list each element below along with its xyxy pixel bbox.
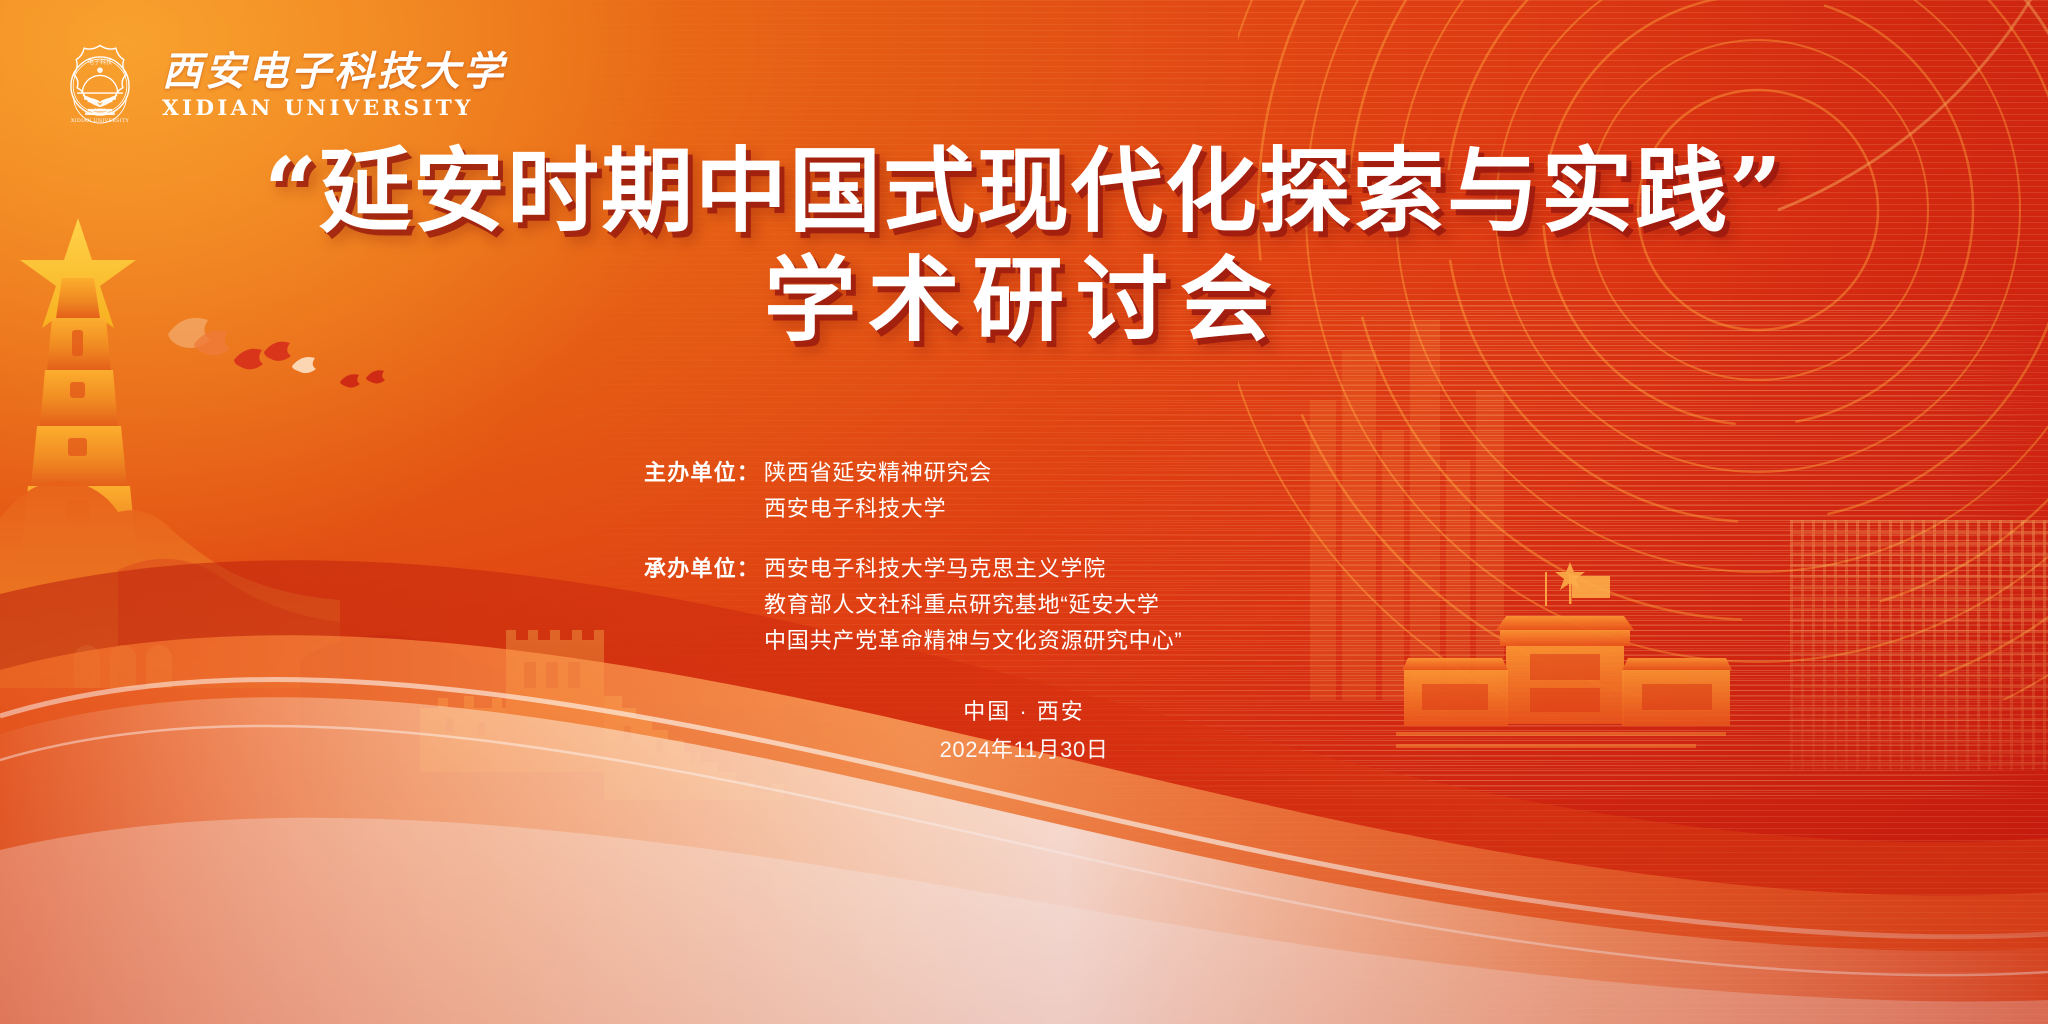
event-date: 2024年11月30日 [644, 731, 1404, 769]
host-row: 主办单位： 陕西省延安精神研究会 西安电子科技大学 [644, 455, 1404, 527]
xidian-university-seal-icon: 电子科技 1931 XIDIAN UNIVERSITY [56, 42, 144, 130]
seal-year: 1931 [94, 109, 105, 114]
organizer-item: 教育部人文社科重点研究基地“延安大学 [764, 587, 1404, 623]
event-place-date: 中国 · 西安 2024年11月30日 [644, 693, 1404, 769]
university-name-en: XIDIAN UNIVERSITY [162, 96, 506, 121]
organizer-label: 承办单位： [644, 551, 764, 587]
organizer-values: 西安电子科技大学马克思主义学院 教育部人文社科重点研究基地“延安大学 中国共产党… [764, 551, 1404, 659]
organizer-item: 西安电子科技大学马克思主义学院 [764, 551, 1404, 587]
dot-grid-texture [1790, 520, 2048, 770]
title-line-2: 学术研讨会 [0, 243, 2048, 359]
host-item: 陕西省延安精神研究会 [764, 455, 1404, 491]
page-title: “延安时期中国式现代化探索与实践” 学术研讨会 [0, 140, 2048, 359]
organizer-row: 承办单位： 西安电子科技大学马克思主义学院 教育部人文社科重点研究基地“延安大学… [644, 551, 1404, 659]
host-label: 主办单位： [644, 455, 764, 491]
conference-banner: 电子科技 1931 XIDIAN UNIVERSITY 西安电子科技大学 XID… [0, 0, 2048, 1024]
host-item: 西安电子科技大学 [764, 491, 1404, 527]
organizer-info: 主办单位： 陕西省延安精神研究会 西安电子科技大学 承办单位： 西安电子科技大学… [644, 455, 1404, 769]
host-values: 陕西省延安精神研究会 西安电子科技大学 [764, 455, 1404, 527]
university-name-cn: 西安电子科技大学 [162, 51, 506, 93]
organizer-item: 中国共产党革命精神与文化资源研究中心” [764, 623, 1404, 659]
seal-arc-text-en: XIDIAN UNIVERSITY [71, 118, 129, 124]
university-logo: 电子科技 1931 XIDIAN UNIVERSITY 西安电子科技大学 XID… [56, 42, 506, 130]
event-city: 中国 · 西安 [644, 693, 1404, 731]
spacer [644, 531, 1404, 551]
seal-arc-text-cn: 电子科技 [88, 58, 113, 66]
title-line-1: “延安时期中国式现代化探索与实践” [0, 140, 2048, 243]
